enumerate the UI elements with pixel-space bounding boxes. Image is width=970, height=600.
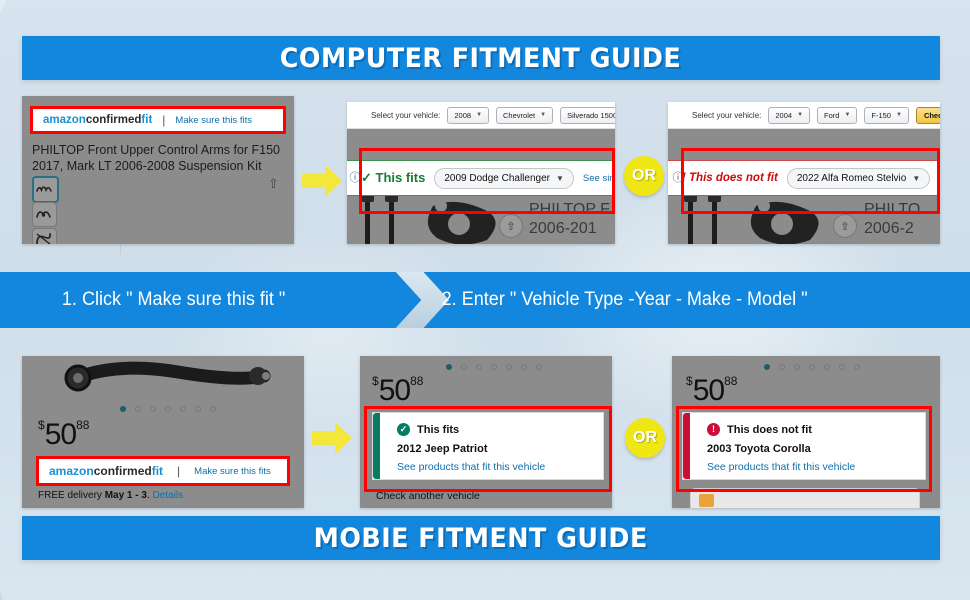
amazon-logo-part1: amazon xyxy=(43,114,86,126)
mobile-amazon-fit-highlight: amazonconfirmedfit | Make sure this fits xyxy=(36,456,290,486)
variant-thumbnail-2[interactable] xyxy=(32,202,57,227)
price-currency: $ xyxy=(686,374,693,388)
mobile-fits-highlight xyxy=(364,406,612,492)
carousel-dot[interactable] xyxy=(809,364,815,370)
desktop-amazon-fit-highlight: amazonconfirmedfit | Make sure this fits xyxy=(30,106,286,134)
free-delivery-date: May 1 - 3 xyxy=(105,490,147,501)
mobile-amazon-fit-bar[interactable]: amazonconfirmedfit | Make sure this fits xyxy=(39,459,287,483)
chevron-down-icon: ▼ xyxy=(540,112,546,118)
carousel-dot[interactable] xyxy=(536,364,542,370)
share-icon[interactable]: ⇧ xyxy=(499,214,523,238)
make-value: Ford xyxy=(824,111,839,120)
carousel-dot[interactable] xyxy=(839,364,845,370)
chevron-separator-icon xyxy=(383,272,449,328)
price-currency: $ xyxy=(372,374,379,388)
share-icon[interactable]: ⇧ xyxy=(268,176,279,192)
desktop-nofit-highlight xyxy=(681,148,940,214)
variant-thumbnail-1[interactable] xyxy=(32,176,59,203)
mobile-fitment-banner: MOBIE FITMENT GUIDE xyxy=(22,516,940,560)
carousel-dot[interactable] xyxy=(195,406,201,412)
overlay-line2: 2006-201 xyxy=(529,219,610,238)
details-link[interactable]: Details xyxy=(153,490,184,501)
product-image-control-arm xyxy=(58,358,278,402)
mobile-carousel-dots[interactable] xyxy=(446,364,542,370)
carousel-dot[interactable] xyxy=(824,364,830,370)
divider: | xyxy=(162,113,165,127)
or-badge-mobile: OR xyxy=(625,418,665,458)
carousel-dot[interactable] xyxy=(461,364,467,370)
or-badge-desktop: OR xyxy=(624,156,664,196)
mobile-free-delivery: FREE delivery May 1 - 3. Details xyxy=(38,490,183,501)
price-integer: 50 xyxy=(45,418,76,451)
overlay-line2: 2006-2 xyxy=(864,219,920,238)
amazon-logo-part3: fit xyxy=(141,114,152,126)
mobile-carousel-dots[interactable] xyxy=(764,364,860,370)
carousel-dot[interactable] xyxy=(210,406,216,412)
price-decimal: 88 xyxy=(76,418,89,432)
arrow-right-icon-mobile-1 xyxy=(312,422,352,454)
step-1-text: 1. Click " Make sure this fit " xyxy=(62,289,285,311)
carousel-dot[interactable] xyxy=(476,364,482,370)
model-value: Silverado 1500 xyxy=(567,111,615,120)
chevron-down-icon: ▼ xyxy=(476,112,482,118)
select-vehicle-label: Select your vehicle: xyxy=(371,111,440,120)
model-dropdown[interactable]: Silverado 1500▼ xyxy=(560,107,615,124)
year-value: 2008 xyxy=(454,111,471,120)
carousel-dot[interactable] xyxy=(180,406,186,412)
mobile-price: $5088 xyxy=(686,374,737,408)
model-value: F-150 xyxy=(871,111,891,120)
carousel-dot[interactable] xyxy=(764,364,770,370)
carousel-dot[interactable] xyxy=(165,406,171,412)
mobile-carousel-dots[interactable] xyxy=(120,406,216,412)
mobile-nofit-highlight xyxy=(676,406,932,492)
carousel-dot[interactable] xyxy=(446,364,452,370)
desktop-product-title: PHILTOP Front Upper Control Arms for F15… xyxy=(32,142,294,174)
desktop-fits-highlight xyxy=(359,148,615,214)
amazon-logo-part2: confirmed xyxy=(86,114,142,126)
chevron-down-icon: ▼ xyxy=(844,112,850,118)
desktop-nofit-vehicle-selector: Select your vehicle: 2004▼ Ford▼ F-150▼ … xyxy=(668,102,940,129)
divider: | xyxy=(177,464,180,478)
chevron-down-icon: ▼ xyxy=(797,112,803,118)
desktop-product-title-line1: PHILTOP Front Upper Control Arms for F15… xyxy=(32,142,294,158)
computer-fitment-banner: COMPUTER FITMENT GUIDE xyxy=(22,36,940,80)
model-dropdown[interactable]: F-150▼ xyxy=(864,107,909,124)
chevron-down-icon: ▼ xyxy=(896,112,902,118)
share-icon[interactable]: ⇧ xyxy=(833,214,857,238)
make-value: Chevrolet xyxy=(503,111,535,120)
mobile-price: $5088 xyxy=(38,418,89,452)
amazon-logo-part3: fit xyxy=(152,464,163,478)
make-sure-this-fits-link[interactable]: Make sure this fits xyxy=(194,466,271,477)
amazon-confirmed-fit-logo: amazonconfirmedfit xyxy=(43,114,152,126)
amazon-logo-part1: amazon xyxy=(49,464,94,478)
arrow-right-icon-desktop-1 xyxy=(302,165,342,197)
desktop-fits-vehicle-selector: Select your vehicle: 2008▼ Chevrolet▼ Si… xyxy=(347,102,615,129)
make-sure-this-fits-link[interactable]: Make sure this fits xyxy=(175,115,252,126)
price-integer: 50 xyxy=(693,374,724,407)
check-fit-button[interactable]: Check Fit xyxy=(916,107,940,124)
desktop-product-title-line2: 2017, Mark LT 2006-2008 Suspension Kit xyxy=(32,158,294,174)
year-dropdown[interactable]: 2008▼ xyxy=(447,107,489,124)
carousel-dot[interactable] xyxy=(854,364,860,370)
carousel-dot[interactable] xyxy=(135,406,141,412)
steps-band: 1. Click " Make sure this fit " 2. Enter… xyxy=(0,272,970,328)
year-dropdown[interactable]: 2004▼ xyxy=(768,107,810,124)
carousel-dot[interactable] xyxy=(506,364,512,370)
carousel-dot[interactable] xyxy=(779,364,785,370)
variant-thumbnail-3[interactable] xyxy=(32,228,57,244)
desktop-amazon-fit-bar[interactable]: amazonconfirmedfit | Make sure this fits xyxy=(33,109,283,131)
carousel-dot[interactable] xyxy=(521,364,527,370)
step-2-text: 2. Enter " Vehicle Type -Year - Make - M… xyxy=(442,289,808,311)
desktop-product-panel: amazonconfirmedfit | Make sure this fits… xyxy=(22,96,294,244)
amazon-logo-part2: confirmed xyxy=(94,464,152,478)
free-delivery-prefix: FREE delivery xyxy=(38,490,105,501)
mobile-fitment-banner-title: MOBIE FITMENT GUIDE xyxy=(314,523,648,554)
price-decimal: 88 xyxy=(724,374,737,388)
select-vehicle-label: Select your vehicle: xyxy=(692,111,761,120)
computer-fitment-banner-title: COMPUTER FITMENT GUIDE xyxy=(280,43,681,74)
price-decimal: 88 xyxy=(410,374,423,388)
price-integer: 50 xyxy=(379,374,410,407)
make-dropdown[interactable]: Chevrolet▼ xyxy=(496,107,553,124)
box-icon xyxy=(699,494,714,507)
amazon-confirmed-fit-logo: amazonconfirmedfit xyxy=(49,464,163,478)
carousel-dot[interactable] xyxy=(150,406,156,412)
mobile-price: $5088 xyxy=(372,374,423,408)
carousel-dot[interactable] xyxy=(491,364,497,370)
mobile-product-panel: $5088 amazonconfirmedfit | Make sure thi… xyxy=(22,356,304,508)
carousel-dot[interactable] xyxy=(120,406,126,412)
year-value: 2004 xyxy=(775,111,792,120)
make-dropdown[interactable]: Ford▼ xyxy=(817,107,857,124)
carousel-dot[interactable] xyxy=(794,364,800,370)
price-currency: $ xyxy=(38,418,45,432)
